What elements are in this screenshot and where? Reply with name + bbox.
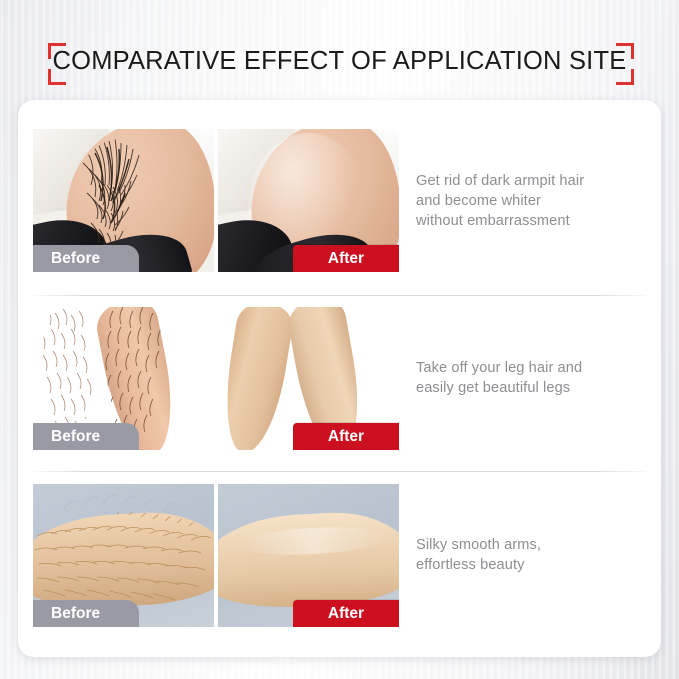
before-photo-legs: Before [33, 307, 214, 450]
after-badge: After [293, 600, 399, 627]
caption-line: effortless beauty [416, 555, 654, 575]
comparison-row-armpit: Before After Get rid of dark armpit hair… [18, 114, 661, 289]
title-banner: COMPARATIVE EFFECT OF APPLICATION SITE [0, 36, 679, 92]
before-badge: Before [33, 423, 139, 450]
comparison-card: Before After Get rid of dark armpit hair… [18, 100, 661, 657]
caption-line: easily get beautiful legs [416, 378, 654, 398]
after-photo-armpit: After [218, 129, 399, 272]
caption-armpit: Get rid of dark armpit hair and become w… [416, 171, 654, 231]
caption-line: and become whiter [416, 191, 654, 211]
comparison-row-arms: Before After Silky smooth arms, effortle… [18, 469, 661, 644]
after-photo-arm: After [218, 484, 399, 627]
infographic-page: COMPARATIVE EFFECT OF APPLICATION SITE [0, 0, 679, 679]
caption-legs: Take off your leg hair and easily get be… [416, 358, 654, 398]
before-photo-armpit: Before [33, 129, 214, 272]
caption-line: Silky smooth arms, [416, 535, 654, 555]
comparison-row-legs: Before After Take off your leg hair and … [18, 292, 661, 467]
caption-line: without embarrassment [416, 211, 654, 231]
caption-line: Get rid of dark armpit hair [416, 171, 654, 191]
before-badge: Before [33, 600, 139, 627]
before-photo-arm: Before [33, 484, 214, 627]
caption-arms: Silky smooth arms, effortless beauty [416, 535, 654, 575]
page-title: COMPARATIVE EFFECT OF APPLICATION SITE [0, 36, 679, 86]
after-photo-legs: After [218, 307, 399, 450]
after-badge: After [293, 245, 399, 272]
caption-line: Take off your leg hair and [416, 358, 654, 378]
after-badge: After [293, 423, 399, 450]
before-badge: Before [33, 245, 139, 272]
